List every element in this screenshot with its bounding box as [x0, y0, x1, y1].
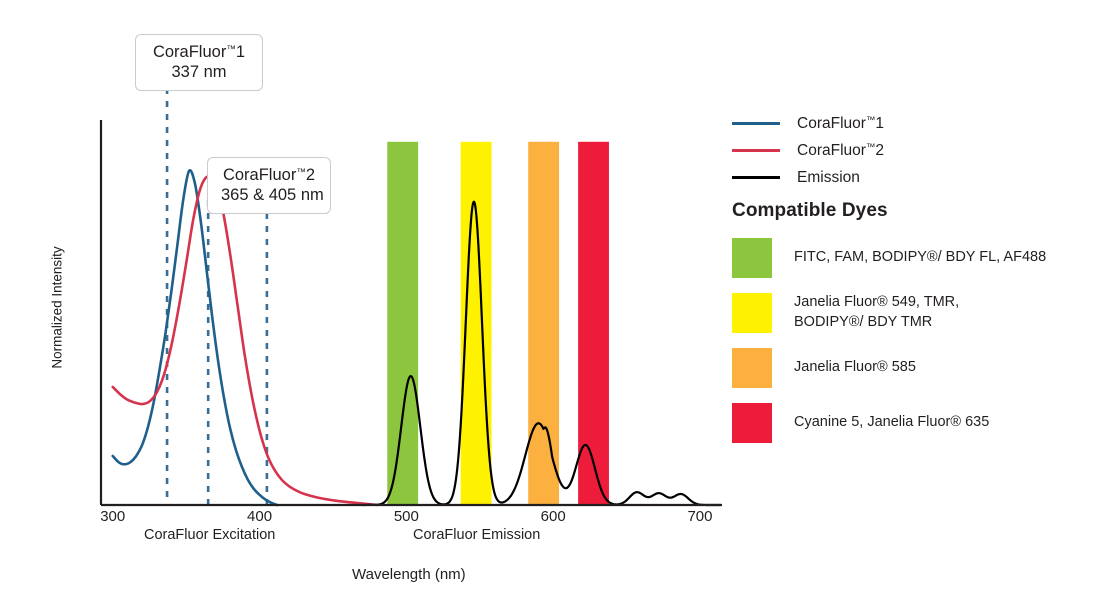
compatible-dyes-list: FITC, FAM, BODIPY®/ BDY FL, AF488Janelia… [732, 238, 1092, 443]
callout-cf2-title: CoraFluor™2 [221, 165, 317, 185]
curve-corafluor2 [113, 176, 377, 505]
legend-label: CoraFluor™1 [797, 115, 884, 133]
legend-row-0: CoraFluor™1 [732, 110, 1072, 137]
legend-row-1: CoraFluor™2 [732, 137, 1072, 164]
dye-row-2: Janelia Fluor® 585 [732, 348, 1092, 388]
dye-label: Janelia Fluor® 585 [794, 358, 916, 378]
red-band [578, 142, 609, 505]
callout-cf1-title: CoraFluor™1 [149, 42, 249, 62]
compatible-dyes-title: Compatible Dyes [732, 200, 1092, 222]
trademark-symbol: ™ [866, 142, 876, 153]
x-tick-500: 500 [394, 508, 419, 525]
callout-corafluor-1: CoraFluor™1 337 nm [135, 34, 263, 91]
emission-region-label: CoraFluor Emission [413, 527, 540, 543]
dye-color-swatch [732, 348, 772, 388]
orange-band [528, 142, 559, 505]
excitation-marker-lines [167, 88, 267, 505]
callout-corafluor-2: CoraFluor™2 365 & 405 nm [207, 157, 331, 214]
callout-cf1-value: 337 nm [149, 62, 249, 82]
legend-label: Emission [797, 169, 860, 187]
y-axis-label: Normalized Intensity [50, 213, 65, 403]
dye-color-swatch [732, 238, 772, 278]
excitation-region-label: CoraFluor Excitation [144, 527, 275, 543]
x-tick-700: 700 [687, 508, 712, 525]
trademark-symbol: ™ [226, 44, 236, 55]
curve-corafluor1 [113, 170, 277, 505]
dye-row-0: FITC, FAM, BODIPY®/ BDY FL, AF488 [732, 238, 1092, 278]
green-band [387, 142, 418, 505]
dye-color-swatch [732, 403, 772, 443]
x-axis-label: Wavelength (nm) [352, 566, 466, 583]
x-tick-600: 600 [541, 508, 566, 525]
emission-filter-bands [387, 142, 609, 505]
figure-root: CoraFluor™1 337 nm CoraFluor™2 365 & 405… [0, 0, 1110, 612]
callout-cf2-value: 365 & 405 nm [221, 185, 317, 205]
compatible-dyes-panel: Compatible Dyes FITC, FAM, BODIPY®/ BDY … [732, 200, 1092, 458]
dye-row-3: Cyanine 5, Janelia Fluor® 635 [732, 403, 1092, 443]
x-tick-400: 400 [247, 508, 272, 525]
legend-line-swatch [732, 176, 780, 179]
dye-row-1: Janelia Fluor® 549, TMR,BODIPY®/ BDY TMR [732, 293, 1092, 333]
legend-line-swatch [732, 149, 780, 152]
legend-row-2: Emission [732, 164, 1072, 191]
trademark-symbol: ™ [866, 115, 876, 126]
dye-color-swatch [732, 293, 772, 333]
dye-label: Janelia Fluor® 549, TMR,BODIPY®/ BDY TMR [794, 293, 959, 332]
x-tick-300: 300 [100, 508, 125, 525]
dye-label: FITC, FAM, BODIPY®/ BDY FL, AF488 [794, 248, 1046, 268]
series-legend: CoraFluor™1CoraFluor™2Emission [732, 110, 1072, 191]
legend-label: CoraFluor™2 [797, 142, 884, 160]
legend-line-swatch [732, 122, 780, 125]
dye-label: Cyanine 5, Janelia Fluor® 635 [794, 413, 989, 433]
trademark-symbol: ™ [296, 167, 306, 178]
